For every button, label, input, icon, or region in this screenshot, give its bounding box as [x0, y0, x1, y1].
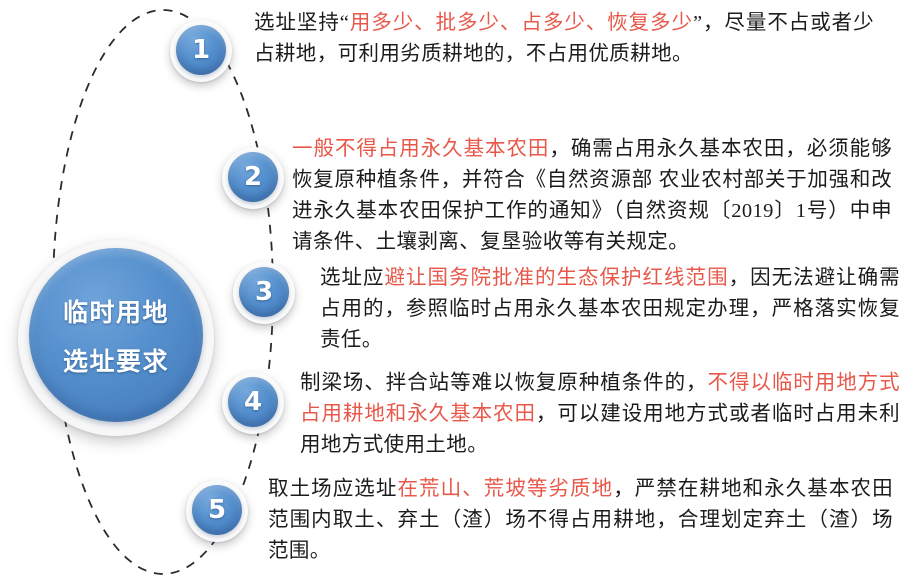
- step-number-4: 4: [244, 389, 262, 415]
- step-node-5[interactable]: 5: [186, 480, 248, 542]
- highlighted-run: 一般不得占用永久基本农田: [292, 138, 549, 160]
- hub-title-line-2: 选址要求: [63, 342, 169, 378]
- step-disc-5: 5: [192, 485, 242, 535]
- highlighted-run: 避让国务院批准的生态保护红线范围: [385, 267, 729, 289]
- highlighted-run: 在荒山、荒坡等劣质地: [397, 478, 613, 500]
- plain-run: 选址坚持“: [254, 12, 349, 34]
- step-text-3: 选址应避让国务院批准的生态保护红线范围，因无法避让确需占用的，参照临时占用永久基…: [320, 263, 900, 356]
- central-hub: 临时用地 选址要求: [18, 240, 214, 436]
- infographic-canvas: 临时用地 选址要求 1 2 3 4 5 选址坚持“用多少、批多少、占多少、恢复多…: [0, 0, 924, 580]
- step-text-1: 选址坚持“用多少、批多少、占多少、恢复多少”，尽量不占或者少占耕地，可利用劣质耕…: [254, 8, 874, 70]
- step-node-1[interactable]: 1: [170, 20, 232, 82]
- step-number-5: 5: [208, 497, 226, 523]
- step-number-3: 3: [255, 279, 273, 305]
- step-text-4: 制梁场、拌合站等难以恢复原种植条件的，不得以临时用地方式占用耕地和永久基本农田，…: [300, 368, 900, 461]
- step-text-5: 取土场应选址在荒山、荒坡等劣质地，严禁在耕地和永久基本农田范围内取土、弃土（渣）…: [268, 474, 893, 567]
- hub-disc: 临时用地 选址要求: [29, 248, 203, 422]
- step-text-2: 一般不得占用永久基本农田，确需占用永久基本农田，必须能够恢复原种植条件，并符合《…: [292, 134, 892, 258]
- step-disc-1: 1: [176, 25, 226, 75]
- step-node-2[interactable]: 2: [222, 147, 284, 209]
- step-disc-4: 4: [228, 377, 278, 427]
- plain-run: 选址应: [320, 267, 385, 289]
- step-node-3[interactable]: 3: [233, 262, 295, 324]
- hub-title-line-1: 临时用地: [63, 293, 169, 329]
- plain-run: 制梁场、拌合站等难以恢复原种植条件的，: [300, 372, 708, 394]
- step-disc-2: 2: [228, 152, 278, 202]
- step-disc-3: 3: [239, 267, 289, 317]
- step-number-1: 1: [192, 37, 210, 63]
- plain-run: 取土场应选址: [268, 478, 397, 500]
- highlighted-run: 用多少、批多少、占多少、恢复多少: [349, 12, 693, 34]
- step-node-4[interactable]: 4: [222, 372, 284, 434]
- step-number-2: 2: [244, 164, 262, 190]
